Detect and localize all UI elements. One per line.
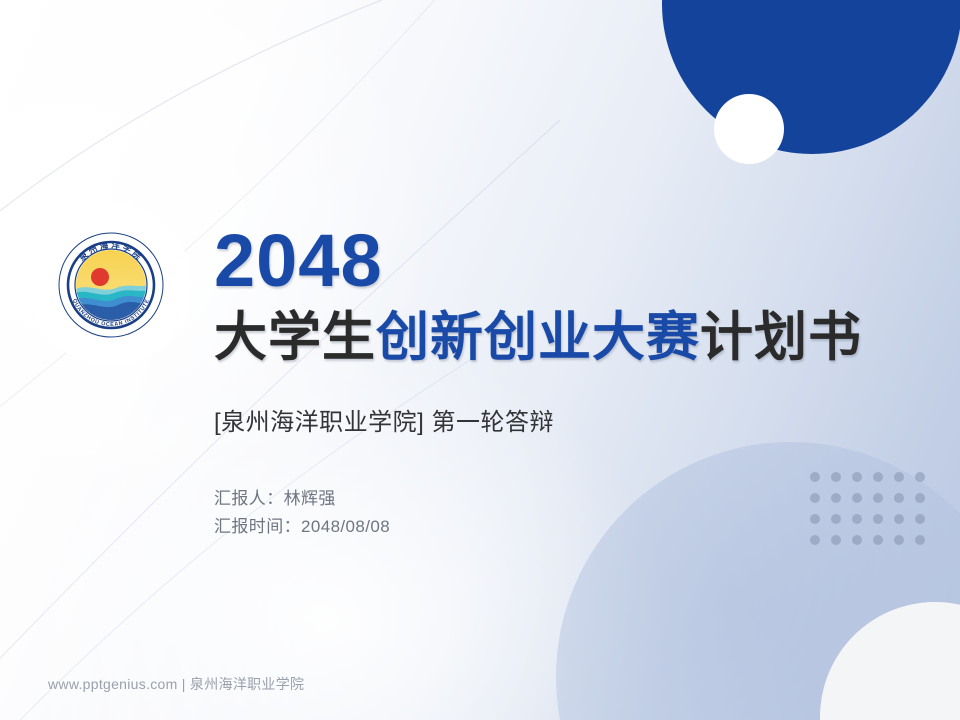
headline-part-2: 创新创业大赛 [376, 308, 700, 367]
white-accent-dot [714, 94, 784, 164]
title-block: 2048 大学生创新创业大赛计划书 [泉州海洋职业学院] 第一轮答辩 汇报人：林… [214, 224, 914, 540]
headline-part-1: 大学生 [214, 308, 376, 367]
headline-part-3: 计划书 [700, 308, 862, 367]
presentation-date: 汇报时间：2048/08/08 [214, 513, 914, 541]
presenter-name: 汇报人：林辉强 [214, 485, 914, 513]
year-title: 2048 [214, 224, 914, 298]
footer-text: www.pptgenius.com | 泉州海洋职业学院 [48, 674, 304, 694]
institution-logo-icon: 泉州海洋学院 QUANZHOU OCEAN INSTITUTE [56, 230, 166, 340]
subtitle: [泉州海洋职业学院] 第一轮答辩 [214, 402, 914, 437]
headline-title: 大学生创新创业大赛计划书 [214, 308, 914, 368]
presenter-meta: 汇报人：林辉强 汇报时间：2048/08/08 [214, 485, 914, 540]
presentation-slide: 泉州海洋学院 QUANZHOU OCEAN INSTITUTE 2048 大学生… [0, 0, 960, 720]
